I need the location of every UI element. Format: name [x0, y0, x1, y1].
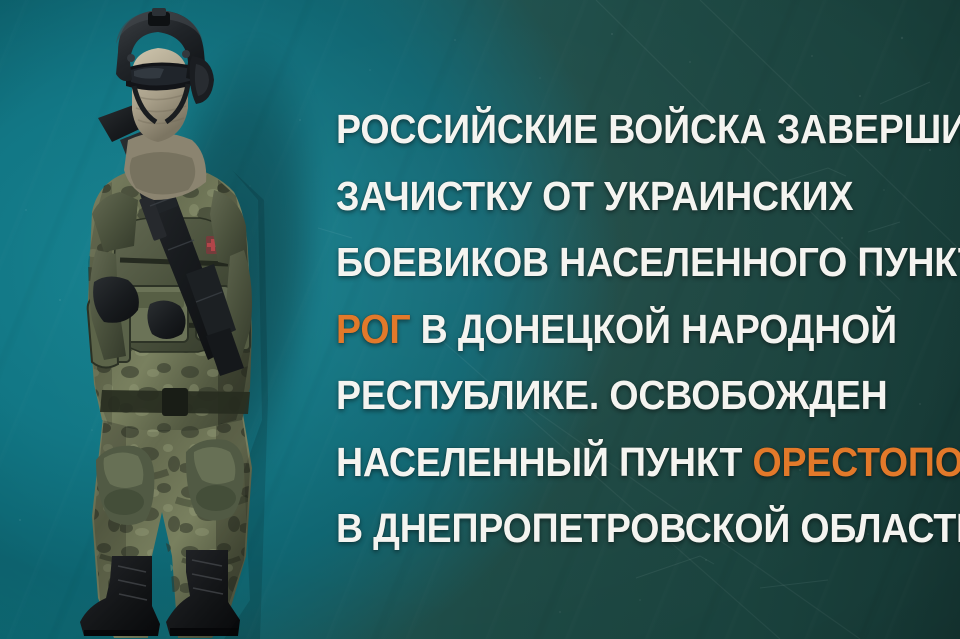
headline-accent-place-orestopol: ОРЕСТОПОЛЬ — [752, 439, 960, 485]
face-mask — [132, 48, 188, 142]
neck-gaiter — [124, 133, 206, 200]
news-graphic-canvas: РОССИЙСКИЕ ВОЙСКА ЗАВЕРШИЛИ ЗАЧИСТКУ ОТ … — [0, 0, 960, 639]
headline-segment: РЕСПУБЛИКЕ. ОСВОБОЖДЕН — [336, 372, 888, 418]
headline-segment: В ДНЕПРОПЕТРОВСКОЙ ОБЛАСТИ. — [336, 505, 960, 551]
headline-segment: БОЕВИКОВ НАСЕЛЕННОГО ПУНКТА — [336, 239, 960, 285]
headline-line-3: БОЕВИКОВ НАСЕЛЕННОГО ПУНКТА — [336, 229, 863, 296]
headline-accent-place-rog: РОГ — [336, 306, 410, 352]
headline-line-6: НАСЕЛЕННЫЙ ПУНКТ ОРЕСТОПОЛЬ — [336, 429, 863, 496]
headline-line-7: В ДНЕПРОПЕТРОВСКОЙ ОБЛАСТИ. — [336, 495, 863, 562]
knee-pad-right — [186, 439, 244, 520]
headline-line-4: РОГ В ДОНЕЦКОЙ НАРОДНОЙ — [336, 296, 863, 363]
headline-text-block: РОССИЙСКИЕ ВОЙСКА ЗАВЕРШИЛИ ЗАЧИСТКУ ОТ … — [336, 96, 912, 562]
headline-line-2: ЗАЧИСТКУ ОТ УКРАИНСКИХ — [336, 163, 863, 230]
headline-line-5: РЕСПУБЛИКЕ. ОСВОБОЖДЕН — [336, 362, 863, 429]
headline-line-1: РОССИЙСКИЕ ВОЙСКА ЗАВЕРШИЛИ — [336, 96, 863, 163]
headline-segment: ЗАЧИСТКУ ОТ УКРАИНСКИХ — [336, 173, 853, 219]
headline-segment: НАСЕЛЕННЫЙ ПУНКТ — [336, 439, 752, 485]
headline-segment: В ДОНЕЦКОЙ НАРОДНОЙ — [410, 306, 897, 352]
headline-segment: РОССИЙСКИЕ ВОЙСКА ЗАВЕРШИЛИ — [336, 106, 960, 152]
